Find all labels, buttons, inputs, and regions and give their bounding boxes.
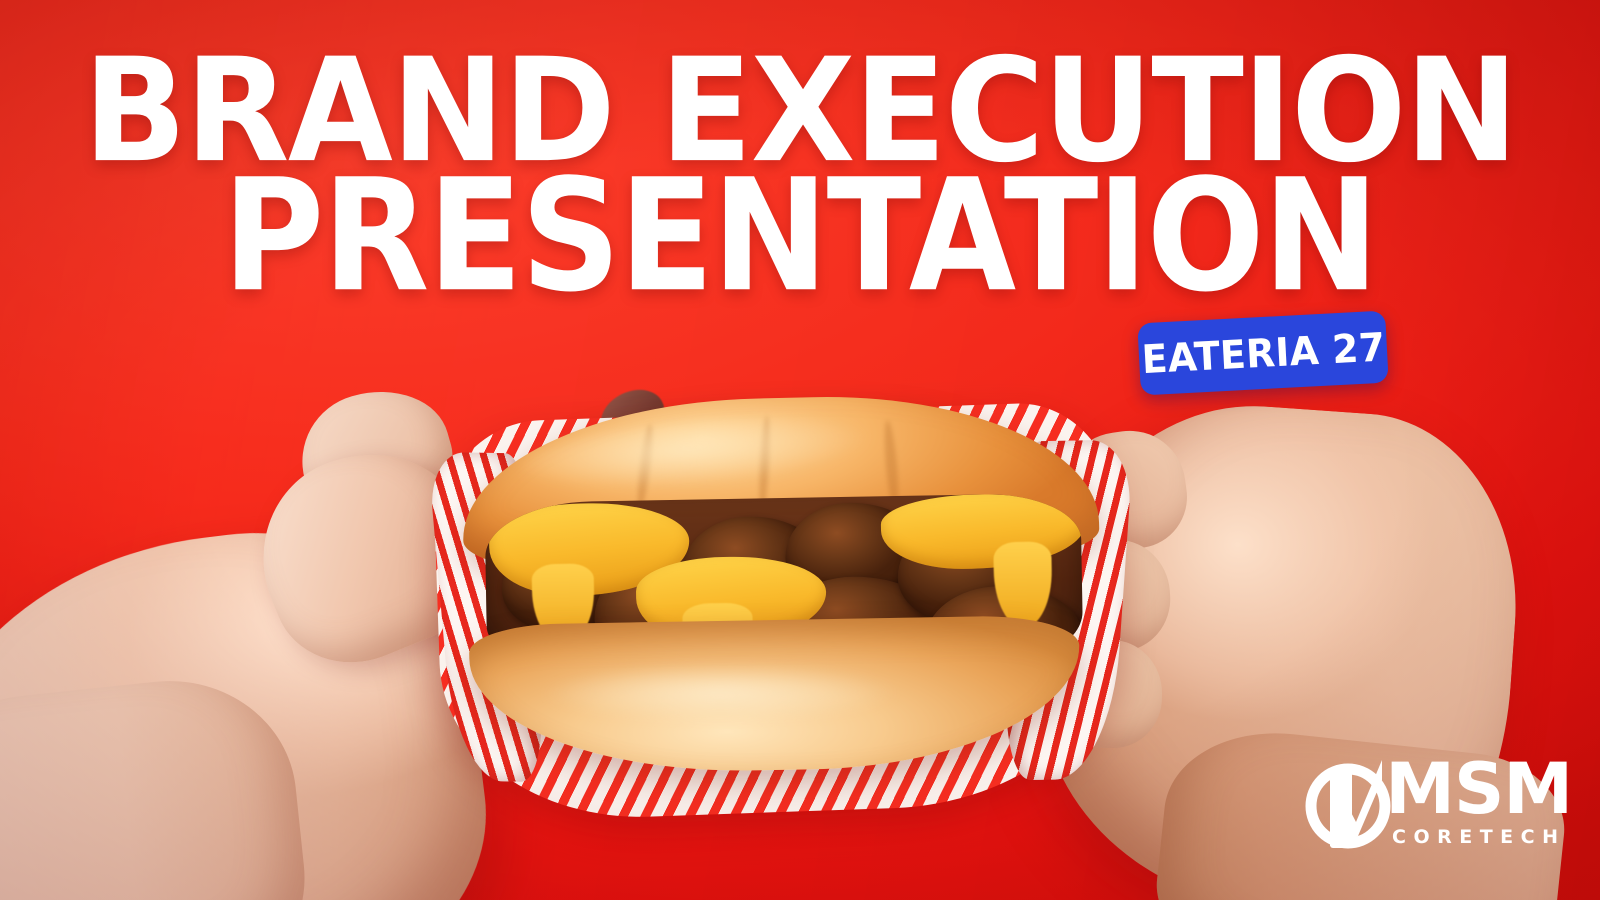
logo-tagline: CORETECH (1392, 826, 1566, 848)
brand-badge: EATERIA 27 (1137, 311, 1388, 396)
brand-badge-label: EATERIA 27 (1140, 324, 1386, 382)
title-line-secondary: PRESENTATION (0, 165, 1600, 311)
logo: MSM CORETECH (1300, 748, 1562, 854)
presentation-cover-slide: BRAND EXECUTION PRESENTATION EATERIA 27 … (0, 0, 1600, 900)
slide-title: BRAND EXECUTION PRESENTATION (0, 52, 1600, 302)
logo-wordmark: MSM (1385, 755, 1572, 826)
